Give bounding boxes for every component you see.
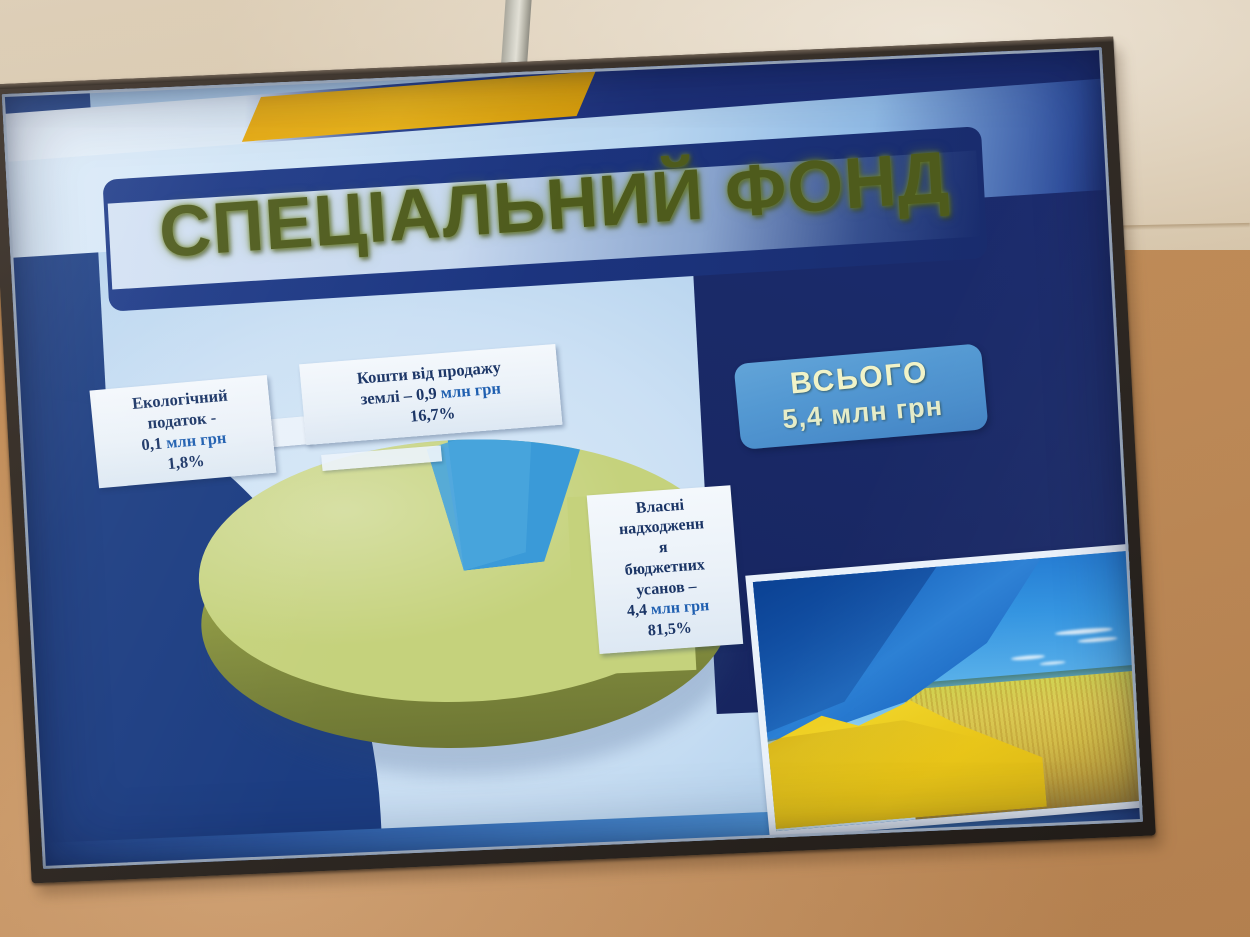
callout-own-unit: млн грн [650, 597, 710, 618]
callout-eco-tax: Екологічний податок - 0,1 млн грн 1,8% [89, 375, 276, 489]
television-display: СПЕЦІАЛЬНИЙ ФОНД [0, 37, 1156, 884]
room-scene: СПЕЦІАЛЬНИЙ ФОНД [0, 0, 1250, 937]
tv-screen: СПЕЦІАЛЬНИЙ ФОНД [2, 47, 1143, 869]
callout-land-value: 0,9 [415, 384, 437, 405]
photo-frame [753, 551, 1143, 831]
callout-eco-value: 0,1 [141, 434, 163, 455]
callout-land-unit: млн грн [440, 379, 502, 403]
callout-own-revenues: Власні надходженн я бюджетних усанов – 4… [587, 485, 744, 654]
photo-inset-flag-wheat [745, 543, 1143, 839]
callout-own-value: 4,4 [626, 602, 647, 620]
presentation-slide: СПЕЦІАЛЬНИЙ ФОНД [2, 47, 1143, 869]
